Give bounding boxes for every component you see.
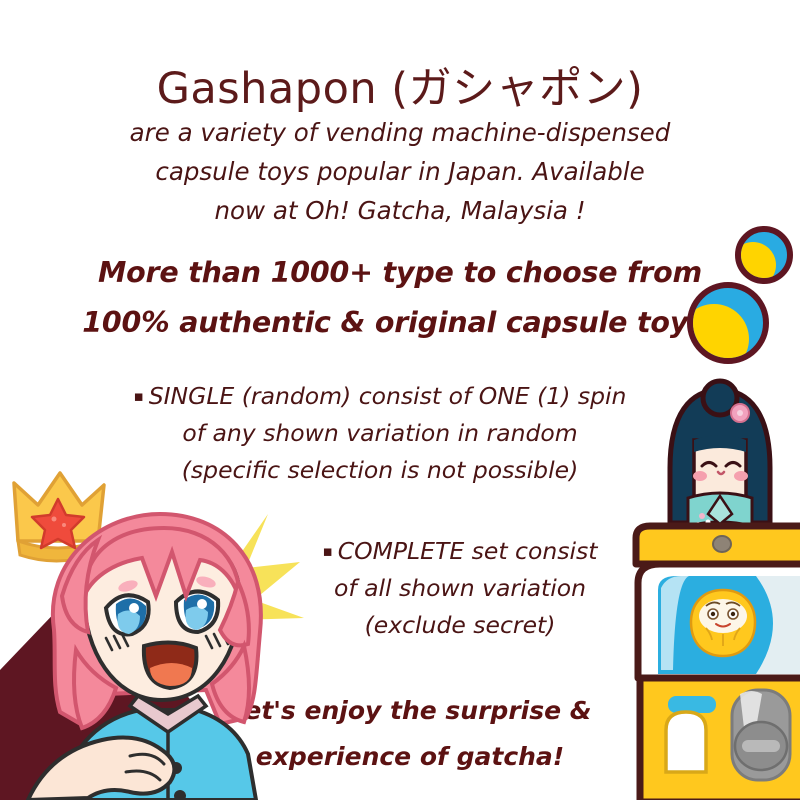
- machine-body-icon: [636, 526, 800, 800]
- excited-anime-girl-character-icon: [10, 500, 310, 800]
- bullet-line: (exclude secret): [250, 607, 670, 644]
- bullet-single-block: ▪SINGLE (random) consist of ONE (1) spin…: [120, 378, 640, 489]
- lede-line: capsule toys popular in Japan. Available: [110, 152, 690, 191]
- headline-line: 100% authentic & original capsule toys!: [40, 298, 760, 348]
- lede-paragraph: are a variety of vending machine-dispens…: [110, 113, 690, 230]
- bullet-complete-block: ▪COMPLETE set consist of all shown varia…: [250, 533, 670, 644]
- daruma-capsule-toy-icon: [691, 590, 755, 656]
- bullet-line: (specific selection is not possible): [120, 452, 640, 489]
- gashapon-vending-machine-icon: [628, 378, 800, 800]
- bullet-text: SINGLE (random) consist of ONE (1) spin: [149, 382, 627, 410]
- capsule-ball-small-icon: [735, 226, 793, 284]
- lede-line: now at Oh! Gatcha, Malaysia !: [110, 191, 690, 230]
- page-title: Gashapon (ガシャポン): [0, 54, 800, 116]
- headline-line: More than 1000+ type to choose from: [40, 248, 760, 298]
- bullet-text: COMPLETE set consist: [338, 537, 598, 565]
- capsule-half-yellow: [687, 304, 749, 364]
- capsule-half-yellow: [735, 242, 776, 284]
- capsule-ball-large-icon: [687, 282, 769, 364]
- bullet-line: of any shown variation in random: [120, 415, 640, 452]
- bullet-marker-icon: ▪: [134, 387, 144, 405]
- bullet-marker-icon: ▪: [323, 542, 333, 560]
- bullet-line: ▪SINGLE (random) consist of ONE (1) spin: [120, 378, 640, 415]
- kokeshi-doll-figure-icon: [670, 381, 770, 526]
- bullet-line: ▪COMPLETE set consist: [250, 533, 670, 570]
- headline-block: More than 1000+ type to choose from 100%…: [40, 248, 760, 348]
- lede-line: are a variety of vending machine-dispens…: [110, 113, 690, 152]
- poster-canvas: Gashapon (ガシャポン) are a variety of vendin…: [0, 0, 800, 800]
- bullet-line: of all shown variation: [250, 570, 670, 607]
